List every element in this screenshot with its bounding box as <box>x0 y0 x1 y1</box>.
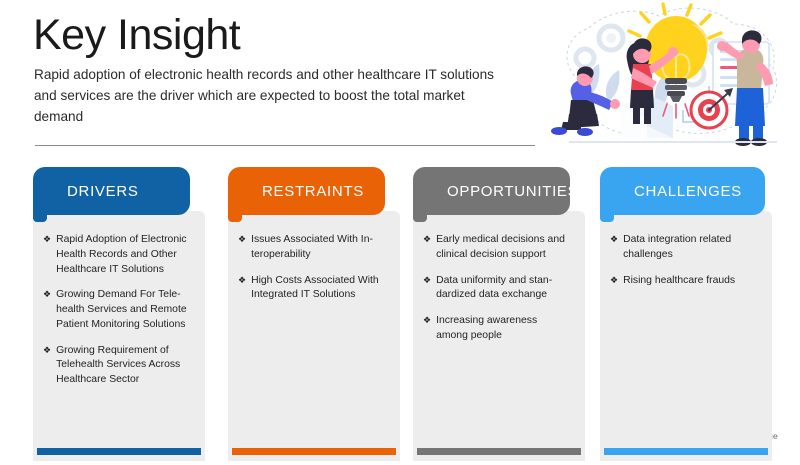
bullet-diamond-icon: ❖ <box>423 233 431 247</box>
insight-card-challenges: CHALLENGES❖Data integration related chal… <box>600 167 772 465</box>
card-header-label: DRIVERS <box>67 183 139 200</box>
bullet-diamond-icon: ❖ <box>423 314 431 328</box>
bullet-diamond-icon: ❖ <box>43 288 51 302</box>
list-item: ❖Rapid Adoption of Electronic Health Rec… <box>43 233 191 277</box>
list-item-text: Rising healthcare frauds <box>623 274 758 289</box>
bullet-diamond-icon: ❖ <box>43 233 51 247</box>
header-divider <box>35 145 535 146</box>
page-subtitle: Rapid adoption of electronic health reco… <box>34 64 504 127</box>
insight-card-restraints: RESTRAINTS❖Issues Associated With In-ter… <box>228 167 400 465</box>
card-accent-bar-restraints <box>232 448 396 455</box>
list-item: ❖Growing Demand For Tele-health Services… <box>43 288 191 332</box>
list-item: ❖Data integration related challenges <box>610 233 758 263</box>
list-item: ❖Issues Associated With In-teroperabilit… <box>238 233 386 263</box>
card-body-opportunities: ❖Early medical decisions and clinical de… <box>413 211 585 461</box>
card-accent-bar-drivers <box>37 448 201 455</box>
card-body-drivers: ❖Rapid Adoption of Electronic Health Rec… <box>33 211 205 461</box>
list-item: ❖Increasing awareness among people <box>423 314 571 344</box>
bullet-diamond-icon: ❖ <box>423 274 431 288</box>
card-header-opportunities[interactable]: OPPORTUNITIES <box>413 167 570 215</box>
teamwork-idea-lightbulb-illustration <box>541 2 800 154</box>
man-kneeling <box>551 66 620 136</box>
insight-card-drivers: DRIVERS❖Rapid Adoption of Electronic Hea… <box>33 167 205 465</box>
list-item-text: Early medical decisions and clinical dec… <box>436 233 571 263</box>
bullet-diamond-icon: ❖ <box>610 233 618 247</box>
page-title: Key Insight <box>33 13 240 58</box>
card-body-restraints: ❖Issues Associated With In-teroperabilit… <box>228 211 400 461</box>
bullet-diamond-icon: ❖ <box>610 274 618 288</box>
bullet-diamond-icon: ❖ <box>238 274 246 288</box>
list-item: ❖Data uniformity and stan-dardized data … <box>423 274 571 304</box>
card-header-label: CHALLENGES <box>634 183 742 200</box>
dartboard <box>691 88 733 128</box>
list-item-text: Growing Requirement of Telehealth Servic… <box>56 344 191 388</box>
list-item-text: Increasing awareness among people <box>436 314 571 344</box>
list-item-text: Data uniformity and stan-dardized data e… <box>436 274 571 304</box>
list-item-text: Growing Demand For Tele-health Services … <box>56 288 191 332</box>
card-header-challenges[interactable]: CHALLENGES <box>600 167 765 215</box>
list-item: ❖High Costs Associated With Integrated I… <box>238 274 386 304</box>
list-item: ❖Early medical decisions and clinical de… <box>423 233 571 263</box>
bullet-list-drivers: ❖Rapid Adoption of Electronic Health Rec… <box>43 233 191 388</box>
card-body-challenges: ❖Data integration related challenges❖Ris… <box>600 211 772 461</box>
bullet-diamond-icon: ❖ <box>43 344 51 358</box>
list-item-text: Data integration related challenges <box>623 233 758 263</box>
card-header-restraints[interactable]: RESTRAINTS <box>228 167 385 215</box>
list-item: ❖Growing Requirement of Telehealth Servi… <box>43 344 191 388</box>
bullet-diamond-icon: ❖ <box>238 233 246 247</box>
card-accent-bar-challenges <box>604 448 768 455</box>
card-header-drivers[interactable]: DRIVERS <box>33 167 190 215</box>
bullet-list-restraints: ❖Issues Associated With In-teroperabilit… <box>238 233 386 303</box>
list-item-text: Issues Associated With In-teroperability <box>251 233 386 263</box>
bullet-list-opportunities: ❖Early medical decisions and clinical de… <box>423 233 571 344</box>
card-header-label: OPPORTUNITIES <box>447 183 578 200</box>
bullet-list-challenges: ❖Data integration related challenges❖Ris… <box>610 233 758 288</box>
list-item-text: Rapid Adoption of Electronic Health Reco… <box>56 233 191 277</box>
card-accent-bar-opportunities <box>417 448 581 455</box>
card-header-label: RESTRAINTS <box>262 183 364 200</box>
insight-card-opportunities: OPPORTUNITIES❖Early medical decisions an… <box>413 167 585 465</box>
list-item: ❖Rising healthcare frauds <box>610 274 758 289</box>
list-item-text: High Costs Associated With Integrated IT… <box>251 274 386 304</box>
